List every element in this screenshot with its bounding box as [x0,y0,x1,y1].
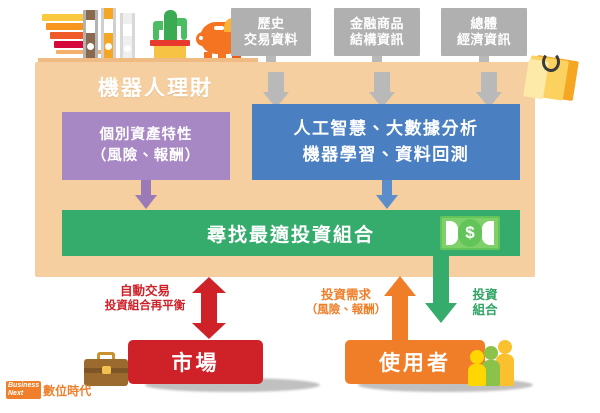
page-title: 機器人理財 [98,72,213,102]
brand-logo[interactable]: Business Next 數位時代 [6,381,91,399]
ai-bigdata-box[interactable]: 人工智慧、大數據分析 機器學習、資料回測 [252,104,520,180]
source-arrow-1 [263,72,289,108]
logo-brand-line-2: Next [8,390,39,398]
portfolio-line-2: 組合 [455,303,515,318]
money-dollar-sign: $ [458,219,482,247]
blue-box-line-2: 機器學習、資料回測 [303,142,470,168]
logo-brand-line-1: Business [8,382,39,390]
people-icon [468,340,524,388]
source-line-2: 交易資料 [244,32,298,48]
infographic-canvas: 歷史 交易資料 金融商品 結構資訊 總體 經濟資訊 機器人理財 [0,0,600,413]
binders-icon [83,8,141,59]
user-box[interactable]: 使用者 [345,340,485,384]
auto-trade-label: 自動交易 投資組合再平衡 [80,284,210,314]
auto-trade-line-2: 投資組合再平衡 [80,299,210,314]
money-icon: $ [440,216,500,250]
source-arrow-3 [476,72,502,108]
market-box[interactable]: 市場 [128,340,263,384]
source-line-1: 總體 [457,16,511,32]
market-label: 市場 [172,347,220,377]
source-line-2: 經濟資訊 [457,32,511,48]
asset-characteristics-box[interactable]: 個別資產特性 （風險、報酬） [62,112,230,180]
logo-badge: Business Next [6,381,41,399]
source-line-1: 金融商品 [350,16,404,32]
portfolio-arrow-down [425,256,457,324]
source-arrow-2 [369,72,395,108]
blue-arrow-down [376,180,398,210]
portfolio-label: 投資 組合 [455,288,515,318]
purple-box-line-2: （風險、報酬） [92,146,201,167]
source-box-macro-economic-data[interactable]: 總體 經濟資訊 [441,8,527,56]
cactus-plant-icon [148,10,192,60]
portfolio-line-1: 投資 [455,288,515,303]
user-label: 使用者 [379,347,451,377]
source-box-financial-product-structure[interactable]: 金融商品 結構資訊 [334,8,420,56]
purple-arrow-down [135,180,157,210]
source-box-historical-trading-data[interactable]: 歷史 交易資料 [231,8,311,56]
auto-trade-line-1: 自動交易 [80,284,210,299]
auto-trade-double-arrow [192,277,226,339]
blue-box-line-1: 人工智慧、大數據分析 [294,116,479,142]
logo-brand-cn: 數位時代 [43,382,91,399]
green-bar-label: 尋找最適投資組合 [207,220,375,247]
source-line-2: 結構資訊 [350,32,404,48]
investment-demand-arrow-up [384,276,416,344]
source-line-1: 歷史 [244,16,298,32]
purple-box-line-1: 個別資產特性 [100,125,193,146]
sticky-note-icon [522,52,582,102]
